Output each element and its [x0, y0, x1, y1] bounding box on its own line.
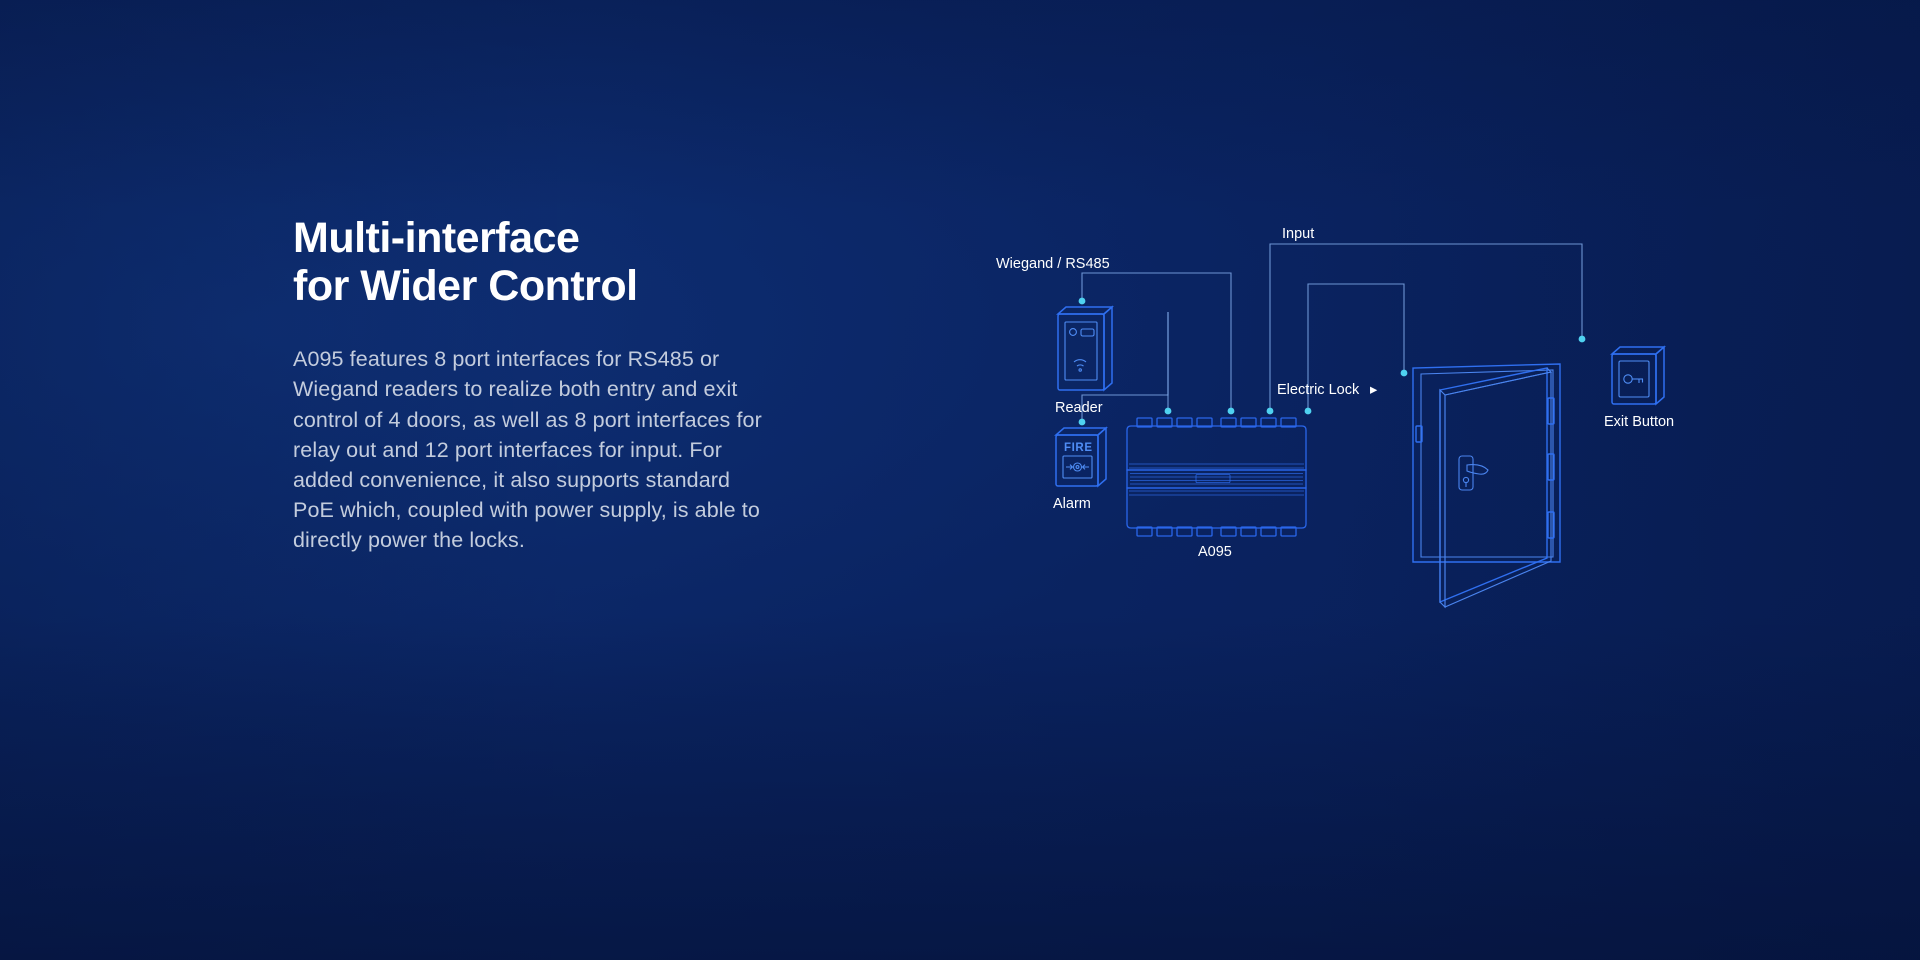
connection-dot	[1079, 298, 1086, 305]
device-label-exit-button: Exit Button	[1604, 414, 1674, 430]
connection-dot	[1305, 408, 1312, 415]
hero-description: A095 features 8 port interfaces for RS48…	[293, 344, 763, 555]
alarm-face-text: FIRE	[1064, 442, 1093, 454]
headline-line-2: for Wider Control	[293, 262, 763, 310]
label-electric-lock: Electric Lock	[1277, 382, 1360, 398]
label-input: Input	[1282, 226, 1314, 242]
wire-wiegand-rs485	[1079, 273, 1235, 414]
connection-dot	[1267, 408, 1274, 415]
connection-dot	[1228, 408, 1235, 415]
device-label-reader: Reader	[1055, 400, 1103, 416]
device-label-a095: A095	[1198, 544, 1232, 560]
connection-dot	[1401, 370, 1408, 377]
page-title: Multi-interface for Wider Control	[293, 214, 763, 310]
connection-dot	[1079, 419, 1086, 426]
connection-dot	[1579, 336, 1586, 343]
door-icon	[1413, 364, 1560, 607]
access-controller-icon	[1127, 418, 1306, 536]
headline-line-1: Multi-interface	[293, 214, 579, 262]
fire-alarm-icon: FIRE	[1056, 428, 1106, 486]
exit-button-icon	[1612, 347, 1664, 404]
card-reader-icon	[1058, 307, 1112, 390]
electric-lock-arrow-icon: ▸	[1370, 382, 1378, 398]
device-label-alarm: Alarm	[1053, 496, 1091, 512]
label-wiegand-rs485: Wiegand / RS485	[996, 256, 1110, 272]
hero-copy: Multi-interface for Wider Control A095 f…	[293, 214, 763, 555]
hero-banner: Multi-interface for Wider Control A095 f…	[0, 0, 1920, 960]
connection-dot	[1165, 408, 1172, 415]
wiring-diagram: Wiegand / RS485 Input Electric Lock ▸	[1020, 230, 1870, 660]
